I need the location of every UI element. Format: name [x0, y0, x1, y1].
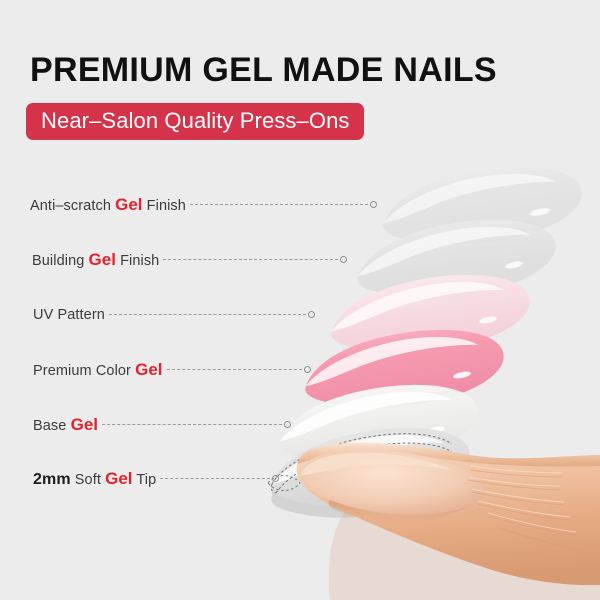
- subtitle-badge: Near–Salon Quality Press–Ons: [26, 103, 364, 140]
- callout-leader-line: [190, 204, 368, 206]
- callout-label-part: 2mm: [33, 471, 71, 488]
- callout-label: Base Gel: [33, 415, 98, 435]
- layer-base-gel: [279, 385, 477, 463]
- callout-label-part: Gel: [71, 415, 98, 434]
- layer-soft-gel-tip: [268, 428, 470, 518]
- callout-leader-line: [163, 259, 338, 261]
- callout-label-part: UV Pattern: [33, 307, 105, 323]
- callout-label-part: Premium Color: [33, 363, 135, 379]
- callout-label-part: Building: [32, 253, 89, 269]
- callout-leader-line: [160, 478, 270, 480]
- layer-premium-color-gel: [305, 330, 503, 408]
- callout-label-part: Gel: [89, 250, 116, 269]
- callout-label: Anti–scratch Gel Finish: [30, 195, 186, 215]
- callout-label: Premium Color Gel: [33, 360, 163, 380]
- fingertip: [297, 443, 600, 600]
- callout-endpoint-marker: [304, 366, 311, 373]
- callout-building-gel-finish: Building Gel Finish: [32, 249, 338, 271]
- layer-uv-pattern: [331, 275, 529, 353]
- callout-anti-scratch-gel-finish: Anti–scratch Gel Finish: [30, 194, 368, 216]
- callout-label-part: Anti–scratch: [30, 198, 115, 214]
- callout-label-part: Base: [33, 418, 71, 434]
- poster-canvas: PREMIUM GEL MADE NAILS Near–Salon Qualit…: [0, 0, 600, 600]
- callout-label-part: Soft: [71, 472, 105, 488]
- callout-label-part: Gel: [105, 469, 132, 488]
- callout-leader-line: [102, 424, 282, 426]
- layer-anti-scratch-gel-finish: [383, 167, 581, 245]
- callout-label: 2mm Soft Gel Tip: [33, 469, 156, 489]
- subtitle-badge-label: Near–Salon Quality Press–Ons: [41, 110, 350, 132]
- callout-endpoint-marker: [272, 475, 279, 482]
- nail-layer-artwork: [0, 0, 600, 600]
- callout-endpoint-marker: [340, 256, 347, 263]
- callout-endpoint-marker: [284, 421, 291, 428]
- callout-leader-line: [109, 314, 306, 316]
- callout-label: Building Gel Finish: [32, 250, 159, 270]
- callout-premium-color-gel: Premium Color Gel: [33, 359, 302, 381]
- callout-label-part: Finish: [143, 198, 186, 214]
- callout-2mm-soft-gel-tip: 2mm Soft Gel Tip: [33, 468, 270, 490]
- callout-leader-line: [167, 369, 302, 371]
- callout-endpoint-marker: [308, 311, 315, 318]
- callout-label: UV Pattern: [33, 307, 105, 323]
- callout-label-part: Tip: [133, 472, 157, 488]
- callout-label-part: Gel: [115, 195, 142, 214]
- callout-endpoint-marker: [370, 201, 377, 208]
- page-title: PREMIUM GEL MADE NAILS: [30, 52, 497, 88]
- callout-base-gel: Base Gel: [33, 414, 282, 436]
- callout-label-part: Finish: [116, 253, 159, 269]
- callout-uv-pattern: UV Pattern: [33, 304, 306, 326]
- callout-label-part: Gel: [135, 360, 162, 379]
- layer-building-gel-finish: [357, 220, 555, 298]
